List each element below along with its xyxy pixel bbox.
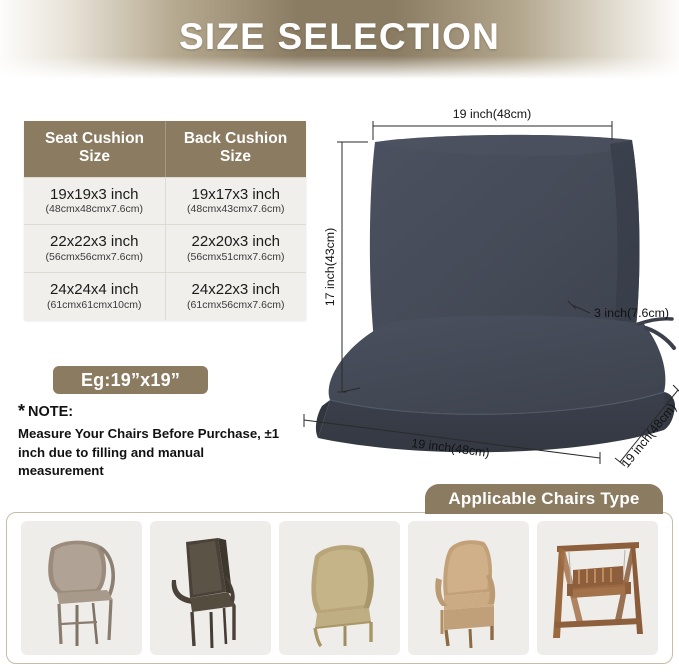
table-header-row: Seat Cushion Size Back Cushion Size [24,121,306,177]
note-heading-label: NOTE: [28,404,73,420]
back-width-label: 19 inch(48cm) [453,107,532,121]
size-table: Seat Cushion Size Back Cushion Size 19x1… [24,121,306,320]
page-header-banner: SIZE SELECTION [0,0,679,82]
seat-size-inch: 22x22x3 inch [27,233,162,250]
table-row: 22x22x3 inch (56cmx56cmx7.6cm) 22x20x3 i… [24,225,306,273]
banner-bottom-fade [0,56,679,82]
dimension-back-width: 19 inch(48cm) [373,107,612,140]
seat-size-cell: 19x19x3 inch (48cmx48cmx7.6cm) [24,177,165,225]
seat-size-cell: 22x22x3 inch (56cmx56cmx7.6cm) [24,225,165,273]
seat-size-cell: 24x24x4 inch (61cmx61cmx10cm) [24,273,165,320]
column-header-seat-cushion: Seat Cushion Size [24,121,165,177]
seat-size-inch: 24x24x4 inch [27,281,162,298]
note-asterisk: * [18,401,25,421]
table-row: 19x19x3 inch (48cmx48cmx7.6cm) 19x17x3 i… [24,177,306,225]
applicable-chairs-tab: Applicable Chairs Type [425,484,663,514]
seat-cushion-shape [316,316,675,453]
chair-card-tan-wicker-tub-chair[interactable] [279,521,400,655]
thickness-label: 3 inch(7.6cm) [594,306,669,320]
seat-size-inch: 19x19x3 inch [27,186,162,203]
chair-card-wicker-stacking-chair[interactable] [21,521,142,655]
note-heading: *NOTE: [18,402,290,420]
note-block: *NOTE: Measure Your Chairs Before Purcha… [18,402,290,481]
page-title: SIZE SELECTION [0,16,679,58]
wooden-porch-swing-icon [543,526,653,651]
chair-card-dark-rattan-armchair[interactable] [150,521,271,655]
example-size-badge: Eg:19”x19” [53,366,208,394]
natural-wicker-armchair-icon [414,526,524,651]
table-row: 24x24x4 inch (61cmx61cmx10cm) 24x22x3 in… [24,273,306,320]
chair-card-wooden-porch-swing[interactable] [537,521,658,655]
seat-size-cm: (48cmx48cmx7.6cm) [27,203,162,217]
dark-rattan-armchair-icon [156,526,266,651]
chair-card-natural-wicker-armchair[interactable] [408,521,529,655]
seat-size-cm: (61cmx61cmx10cm) [27,299,162,313]
note-body: Measure Your Chairs Before Purchase, ±1 … [18,425,290,481]
tan-wicker-tub-chair-icon [285,526,395,651]
wicker-stacking-chair-icon [27,526,137,651]
back-height-label: 17 inch(43cm) [323,228,337,307]
seat-size-cm: (56cmx56cmx7.6cm) [27,251,162,265]
applicable-chairs-panel [6,512,673,664]
cushion-diagram: 19 inch(48cm) 17 inch(43cm) 3 inch(7.6cm… [272,100,679,480]
